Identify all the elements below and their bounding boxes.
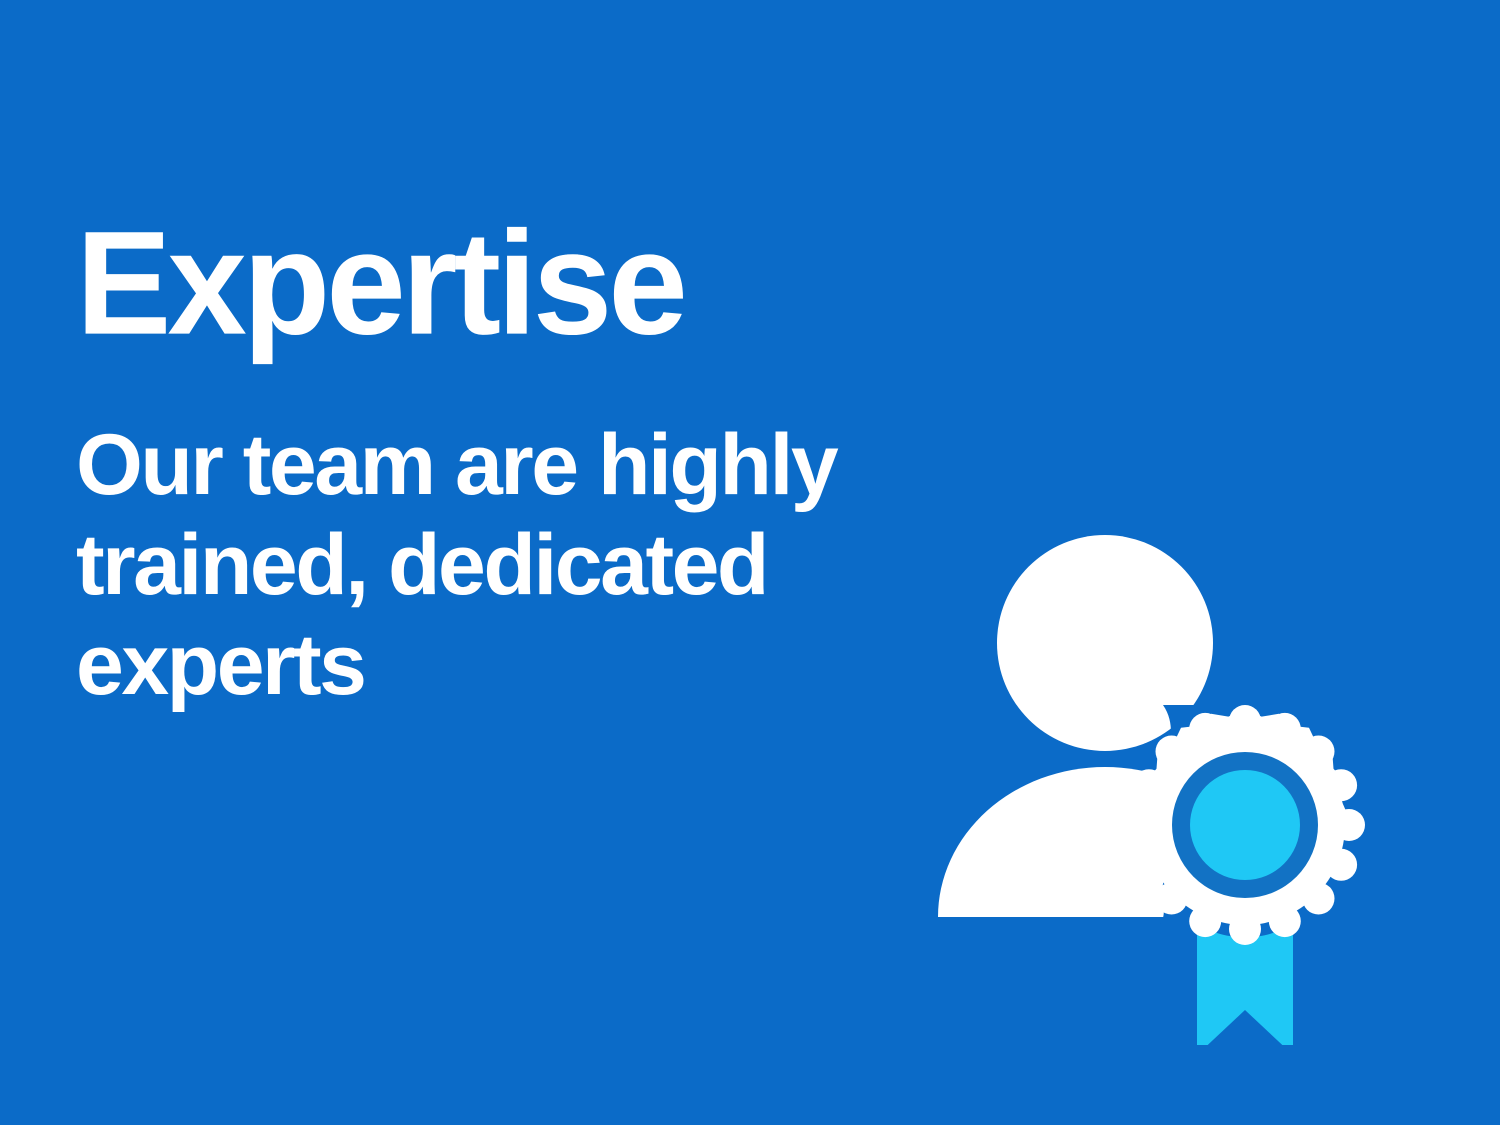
- subtitle-text: Our team are highly trained, dedicated e…: [76, 353, 956, 715]
- subtitle-line-2: trained, dedicated: [76, 515, 956, 615]
- badge-center: [1190, 770, 1300, 880]
- subtitle-line-1: Our team are highly: [76, 415, 956, 515]
- slide-canvas: Expertise Our team are highly trained, d…: [0, 0, 1500, 1125]
- award-badge-icon: [1125, 705, 1365, 1045]
- subtitle-line-3: experts: [76, 615, 956, 715]
- page-title: Expertise: [76, 210, 956, 357]
- text-block: Expertise Our team are highly trained, d…: [76, 210, 956, 715]
- person-with-award-badge-icon: [905, 505, 1425, 1045]
